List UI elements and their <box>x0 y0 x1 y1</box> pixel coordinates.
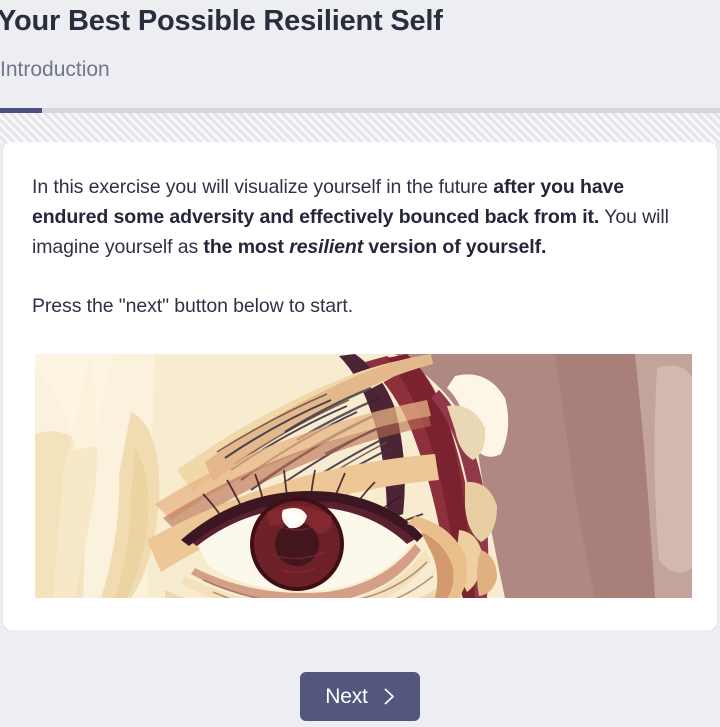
content-card: In this exercise you will visualize your… <box>3 142 717 630</box>
intro-text-plain-1: In this exercise you will visualize your… <box>32 176 493 198</box>
intro-text-bold-2: the most <box>203 236 289 258</box>
chevron-right-icon <box>380 687 399 706</box>
intro-text-bold-3: version of yourself. <box>363 236 546 258</box>
page-header: Your Best Possible Resilient Self Introd… <box>0 0 720 112</box>
eye-illustration <box>35 354 692 598</box>
intro-text-bold-italic: resilient <box>289 236 363 258</box>
card-body: In this exercise you will visualize your… <box>3 142 717 321</box>
intro-paragraph: In this exercise you will visualize your… <box>32 172 677 262</box>
header-texture-strip <box>0 113 720 143</box>
page-footer: Next <box>0 630 720 727</box>
next-button-label: Next <box>325 686 367 707</box>
next-button[interactable]: Next <box>300 672 420 721</box>
instruction-paragraph: Press the "next" button below to start. <box>32 291 688 321</box>
page-subtitle: Introduction <box>0 58 110 82</box>
page-title: Your Best Possible Resilient Self <box>0 5 443 38</box>
